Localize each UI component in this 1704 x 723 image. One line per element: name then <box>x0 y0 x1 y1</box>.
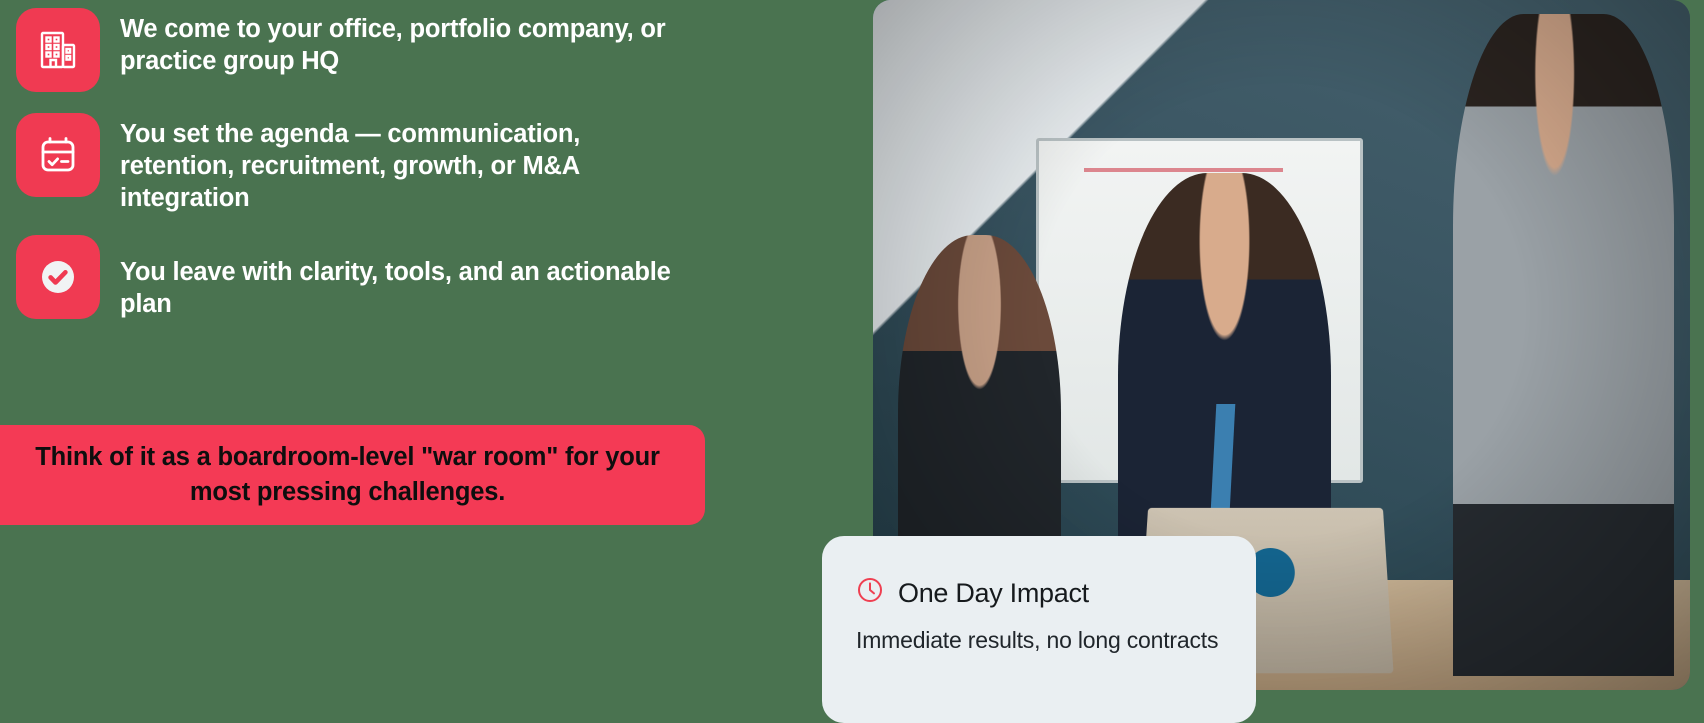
one-day-impact-card: One Day Impact Immediate results, no lon… <box>822 536 1256 723</box>
left-content-column: We come to your office, portfolio compan… <box>0 0 760 723</box>
clock-icon <box>856 576 884 609</box>
callout-banner: Think of it as a boardroom-level "war ro… <box>0 425 705 525</box>
list-item-label: You set the agenda — communication, rete… <box>120 113 680 214</box>
office-building-icon <box>16 8 100 92</box>
check-circle-icon <box>16 235 100 319</box>
benefit-list: We come to your office, portfolio compan… <box>16 8 716 341</box>
list-item-label: You leave with clarity, tools, and an ac… <box>120 235 680 320</box>
calendar-checklist-icon <box>16 113 100 197</box>
list-item: We come to your office, portfolio compan… <box>16 8 716 92</box>
list-item: You leave with clarity, tools, and an ac… <box>16 235 716 320</box>
impact-card-title: One Day Impact <box>898 577 1089 609</box>
list-item: You set the agenda — communication, rete… <box>16 113 716 214</box>
impact-card-subtitle: Immediate results, no long contracts <box>856 625 1222 655</box>
impact-card-header: One Day Impact <box>856 576 1222 609</box>
callout-text: Think of it as a boardroom-level "war ro… <box>30 440 665 510</box>
list-item-label: We come to your office, portfolio compan… <box>120 8 680 77</box>
